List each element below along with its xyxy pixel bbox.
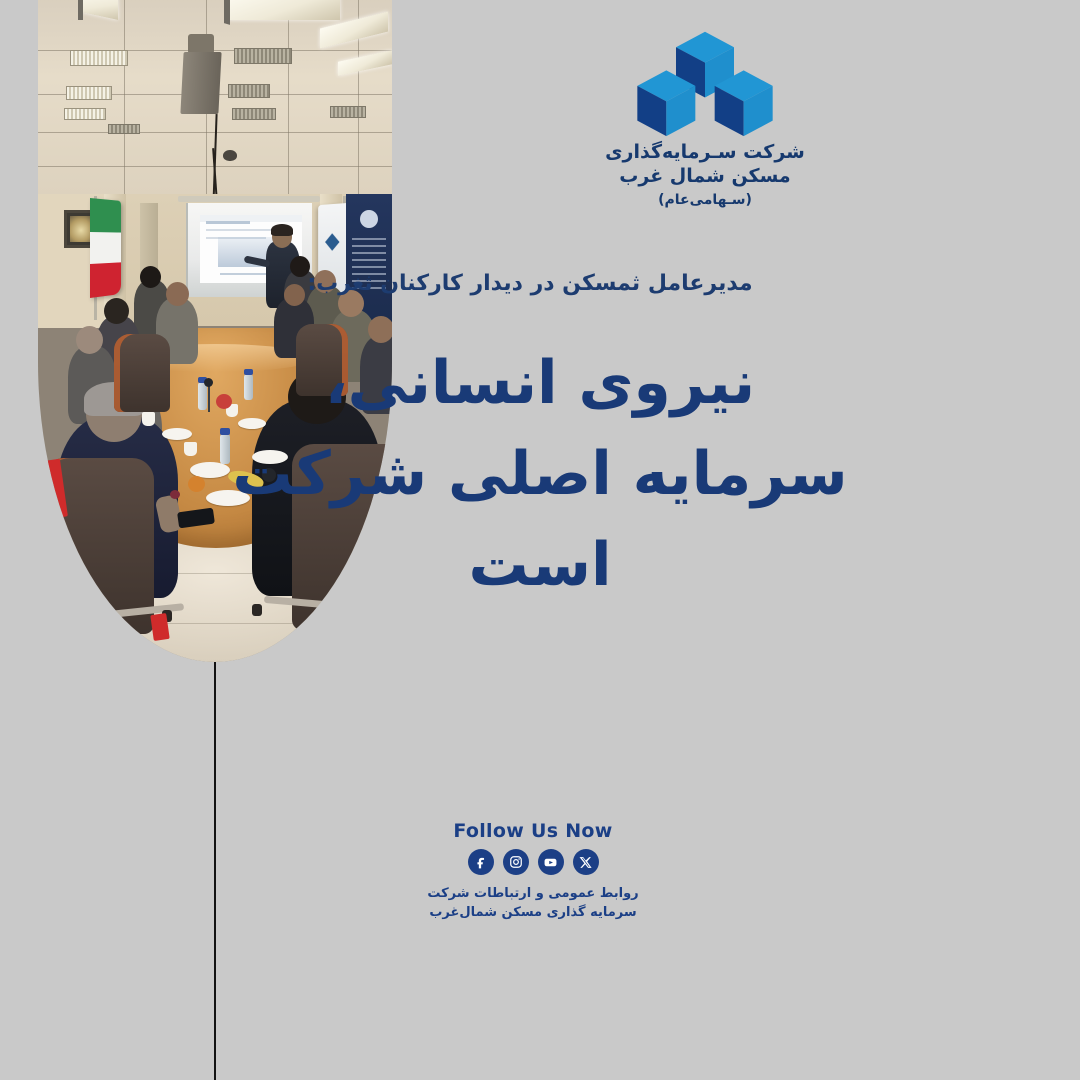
company-logo-block: شرکت سـرمایه‌گذاری مسکن شمال غرب (سـهامی… (560, 24, 850, 210)
facebook-icon[interactable] (468, 849, 494, 875)
ceiling-projector (188, 34, 214, 54)
pr-line-1: روابط عمومی و ارتباطات شرکت (400, 885, 666, 904)
ceiling-light-fixture (180, 52, 221, 114)
logo-legal-form: (سـهامی‌عام) (560, 192, 850, 210)
instagram-icon[interactable] (503, 849, 529, 875)
logo-name-line-2: مسکن شمال غرب (560, 164, 850, 188)
security-dome-camera (223, 150, 237, 161)
headline-line-2: سرمایه اصلی شرکت (130, 429, 950, 520)
headline: نیروی انسانی، سرمایه اصلی شرکت است (130, 338, 950, 612)
social-icons-row (400, 849, 666, 875)
pr-line-2: سرمایه گذاری مسکن شمال‌غرب (400, 904, 666, 923)
headline-line-1: نیروی انسانی، (130, 338, 950, 429)
iran-flag (90, 198, 121, 298)
logo-name-line-1: شرکت سـرمایه‌گذاری (560, 140, 850, 164)
headline-line-3: است (130, 520, 950, 611)
public-relations-credit: روابط عمومی و ارتباطات شرکت سرمایه گذاری… (400, 885, 666, 923)
three-cubes-logo (560, 24, 850, 140)
follow-us-title: Follow Us Now (400, 820, 666, 842)
youtube-icon[interactable] (538, 849, 564, 875)
follow-us-block: Follow Us Now (400, 820, 666, 923)
social-media-poster: شرکت سـرمایه‌گذاری مسکن شمال غرب (سـهامی… (0, 0, 1080, 1080)
x-twitter-icon[interactable] (573, 849, 599, 875)
vertical-divider (214, 662, 216, 1080)
headline-kicker: مدیرعامل ثمسکن در دیدار کارکنان ثغرب: (150, 271, 910, 296)
